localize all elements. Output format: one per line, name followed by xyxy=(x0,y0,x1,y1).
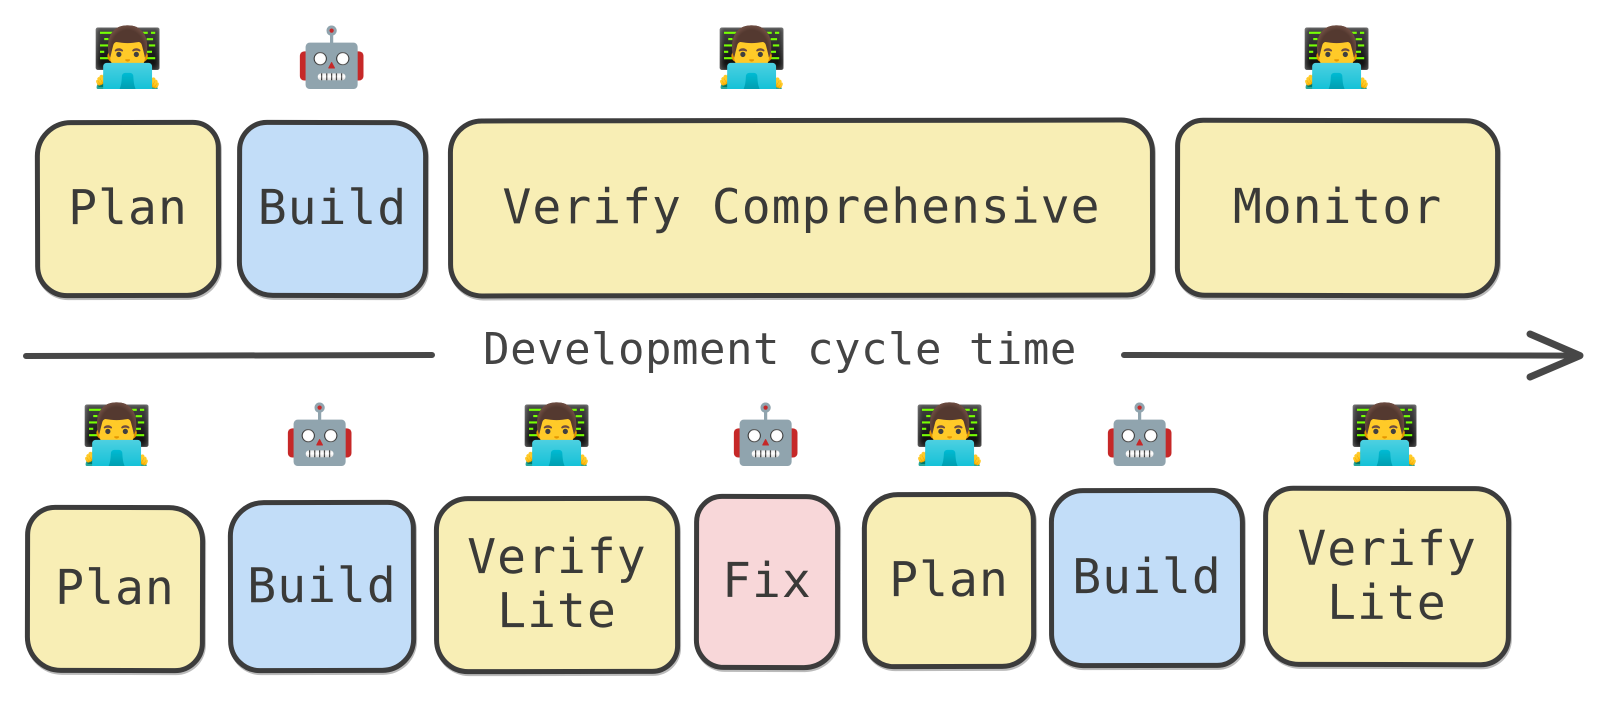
actor-icon-human: 👨‍💻 xyxy=(716,28,788,86)
actor-icon-robot: 🤖 xyxy=(296,28,368,86)
timeline-label: Development cycle time xyxy=(440,324,1120,375)
stage-box-build[interactable]: Build xyxy=(1049,488,1245,668)
actor-icon-human: 👨‍💻 xyxy=(914,405,986,463)
actor-icon-human: 👨‍💻 xyxy=(92,28,164,86)
actor-icon-human: 👨‍💻 xyxy=(81,405,153,463)
diagram-canvas: 👨‍💻 🤖 👨‍💻 👨‍💻 Plan Build Verify Comprehe… xyxy=(0,0,1620,726)
stage-box-plan[interactable]: Plan xyxy=(862,492,1036,669)
stage-box-fix[interactable]: Fix xyxy=(694,494,840,670)
actor-icon-human: 👨‍💻 xyxy=(1301,28,1373,86)
actor-icon-robot: 🤖 xyxy=(284,405,356,463)
actor-icon-human: 👨‍💻 xyxy=(1349,405,1421,463)
stage-box-monitor[interactable]: Monitor xyxy=(1175,118,1500,299)
stage-box-build[interactable]: Build xyxy=(237,120,428,298)
stage-box-plan[interactable]: Plan xyxy=(25,505,205,673)
stage-box-build[interactable]: Build xyxy=(228,500,416,673)
actor-icon-robot: 🤖 xyxy=(730,405,802,463)
stage-box-plan[interactable]: Plan xyxy=(35,120,221,298)
stage-box-verify-lite[interactable]: Verify Lite xyxy=(434,496,680,674)
actor-icon-robot: 🤖 xyxy=(1104,405,1176,463)
stage-box-verify-comprehensive[interactable]: Verify Comprehensive xyxy=(448,118,1155,299)
actor-icon-human: 👨‍💻 xyxy=(521,405,593,463)
stage-box-verify-lite[interactable]: Verify Lite xyxy=(1263,486,1511,668)
